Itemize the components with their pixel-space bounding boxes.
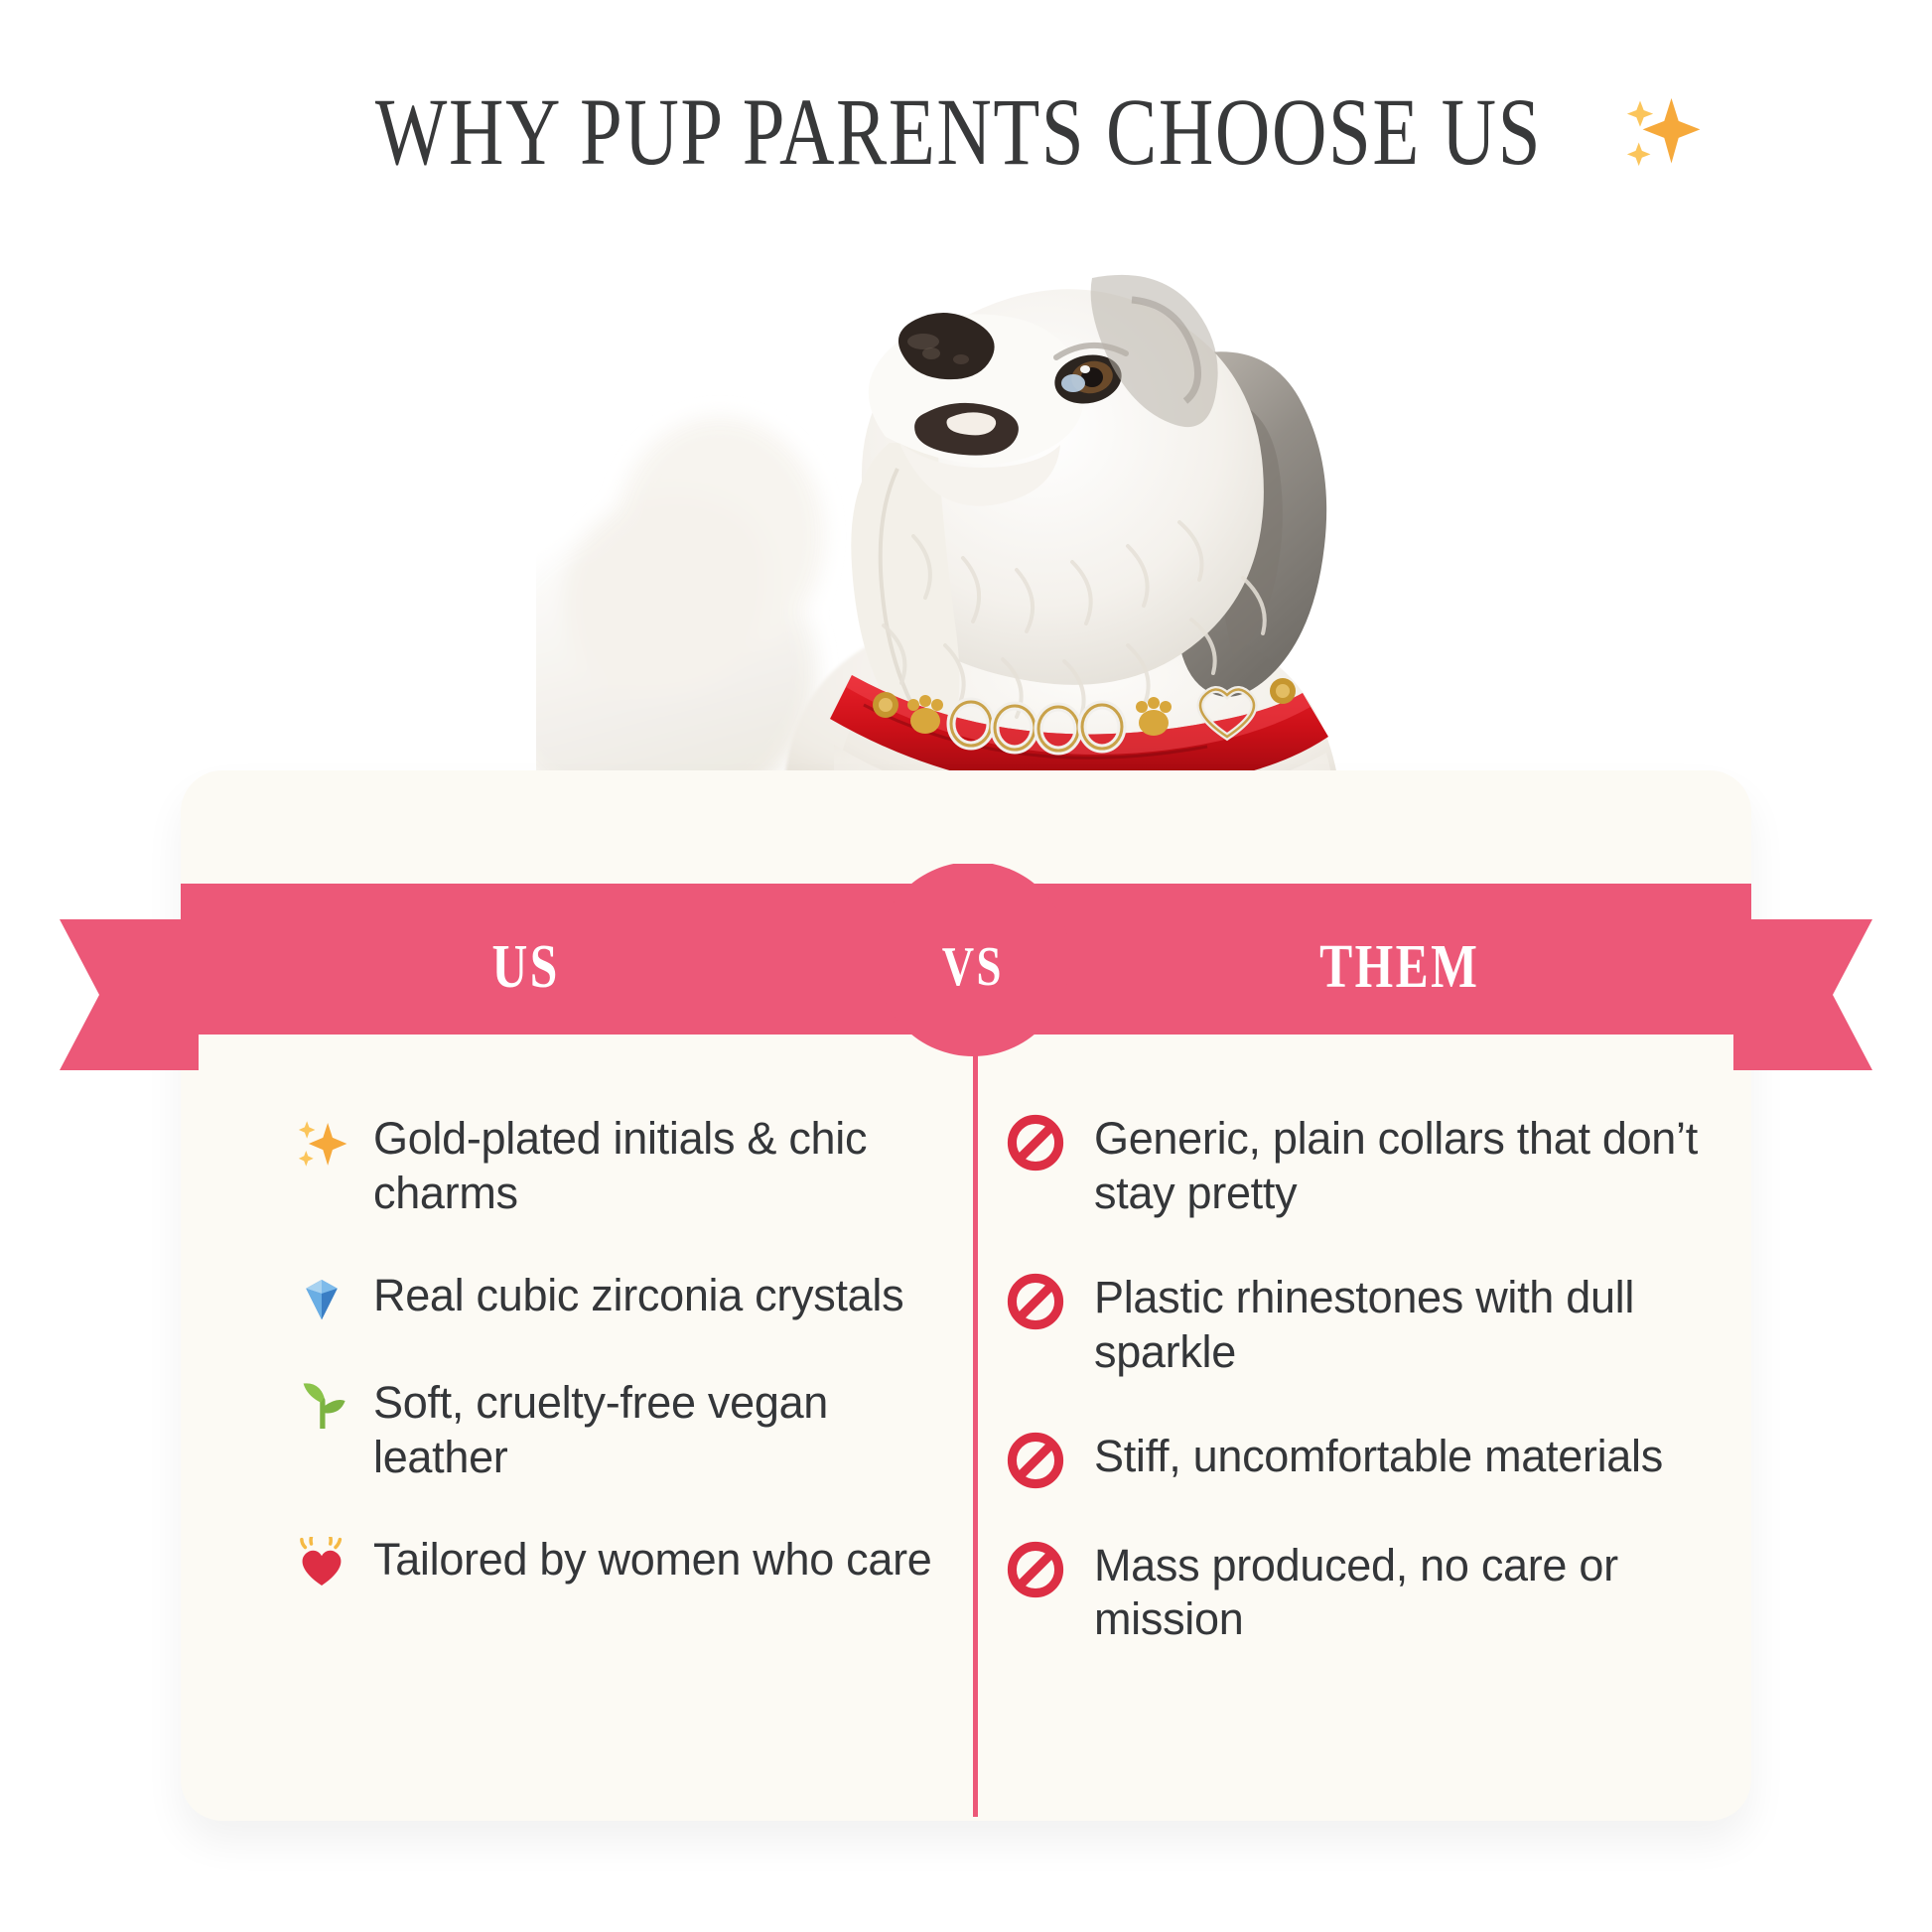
list-item: Plastic rhinestones with dull sparkle [1007, 1271, 1727, 1380]
list-item-text: Real cubic zirconia crystals [373, 1269, 903, 1323]
list-item-text: Gold-plated initials & chic charms [373, 1112, 943, 1221]
list-item: Gold-plated initials & chic charms [294, 1112, 943, 1221]
list-item: Mass produced, no care or mission [1007, 1539, 1727, 1648]
banner-label-them: THEM [1142, 864, 1658, 1070]
sparkles-icon [1619, 90, 1703, 174]
banner-label-us: US [298, 864, 755, 1070]
beating-heart-icon [294, 1537, 349, 1592]
list-item: Generic, plain collars that don’t stay p… [1007, 1112, 1727, 1221]
them-column: Generic, plain collars that don’t stay p… [973, 1112, 1751, 1807]
list-item-text: Tailored by women who care [373, 1533, 931, 1587]
prohibited-icon [1007, 1541, 1064, 1598]
prohibited-icon [1007, 1273, 1064, 1330]
us-column: Gold-plated initials & chic charms Real … [181, 1112, 973, 1807]
banner-label-vs: VS [874, 864, 1072, 1070]
seedling-icon [294, 1380, 349, 1436]
list-item: Real cubic zirconia crystals [294, 1269, 943, 1328]
gem-icon [294, 1273, 349, 1328]
ribbon-labels: US VS THEM [0, 864, 1932, 1070]
list-item-text: Plastic rhinestones with dull sparkle [1094, 1271, 1727, 1380]
list-item-text: Stiff, uncomfortable materials [1094, 1430, 1663, 1484]
page-title: WHY PUP PARENTS CHOOSE US [374, 83, 1541, 181]
sparkles-icon [294, 1116, 349, 1172]
prohibited-icon [1007, 1432, 1064, 1489]
list-item-text: Generic, plain collars that don’t stay p… [1094, 1112, 1727, 1221]
list-item: Stiff, uncomfortable materials [1007, 1430, 1727, 1489]
prohibited-icon [1007, 1114, 1064, 1172]
page-header: WHY PUP PARENTS CHOOSE US [0, 83, 1932, 181]
list-item: Tailored by women who care [294, 1533, 943, 1592]
list-item: Soft, cruelty-free vegan leather [294, 1376, 943, 1485]
list-item-text: Mass produced, no care or mission [1094, 1539, 1727, 1648]
comparison-columns: Gold-plated initials & chic charms Real … [181, 1112, 1751, 1807]
hero-dog-photo [536, 208, 1390, 824]
list-item-text: Soft, cruelty-free vegan leather [373, 1376, 943, 1485]
